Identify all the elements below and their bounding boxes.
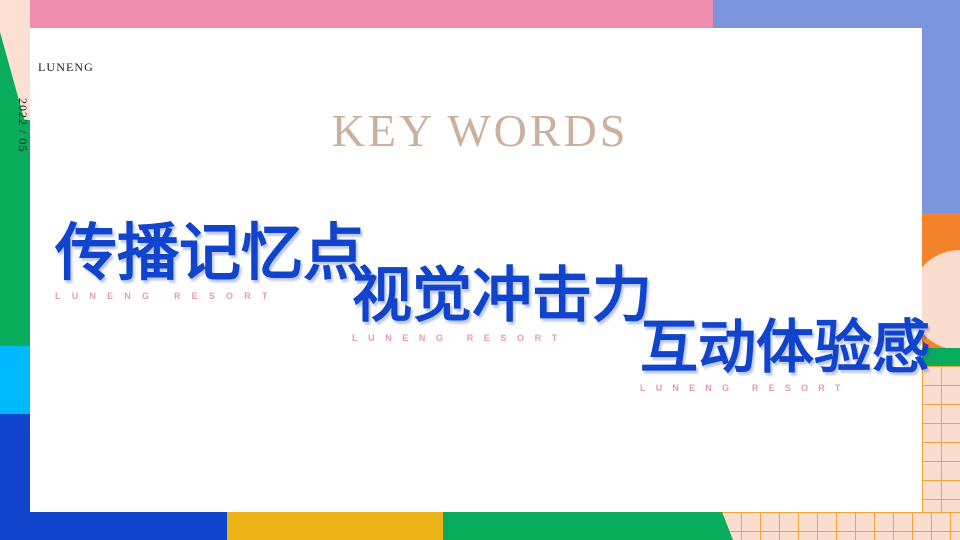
slide-canvas: LUNENG 2022 / 05 KEY WORDS 传播记忆点 LUNENG …: [0, 0, 960, 540]
keyword-1-text: 传播记忆点: [55, 222, 365, 284]
decor-grid-bottom-band: [722, 512, 960, 540]
decor-blue-bottom-band: [0, 512, 227, 540]
keyword-3-text: 互动体验感: [640, 318, 930, 376]
decor-yellow-bottom-band: [227, 512, 443, 540]
keyword-block-2: 视觉冲击力 LUNENG RESORT: [352, 266, 652, 343]
keyword-1-caption: LUNENG RESORT: [55, 291, 365, 301]
decor-green-bottom-band: [443, 512, 733, 540]
keyword-2-caption: LUNENG RESORT: [352, 333, 652, 343]
brand-label: LUNENG: [38, 60, 94, 75]
page-title: KEY WORDS: [0, 104, 960, 157]
keyword-3-caption: LUNENG RESORT: [640, 383, 930, 393]
decor-cyan-left-block: [0, 346, 30, 414]
keyword-block-3: 互动体验感 LUNENG RESORT: [640, 318, 930, 393]
keyword-2-text: 视觉冲击力: [352, 266, 652, 326]
decor-pink-top-bar: [30, 0, 713, 28]
keyword-block-1: 传播记忆点 LUNENG RESORT: [55, 222, 365, 301]
